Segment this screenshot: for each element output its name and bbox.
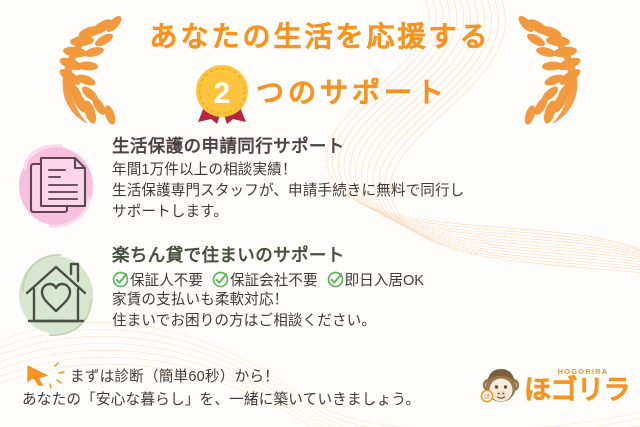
medal-number: 2 — [214, 77, 231, 110]
headline-line-1: あなたの生活を応援する — [0, 23, 640, 51]
logo-text-group: HOGORIRA ほゴリラ — [524, 368, 630, 404]
support-line: 生活保護専門スタッフが、申請手続きに無料で同行し — [112, 181, 626, 202]
medal-ribbon-icon: 2 — [192, 62, 252, 124]
support-line: サポートします。 — [112, 202, 626, 223]
headline-line-2-row: 2 つのサポート — [0, 62, 640, 124]
feature-chip: 保証会社不要 — [212, 269, 318, 290]
support-line: 住まいでお困りの方はご相談ください。 — [112, 311, 626, 332]
check-circle-icon — [112, 271, 129, 288]
support-title-1: 生活保護の申請同行サポート — [112, 136, 626, 157]
support-icon-container-1 — [0, 136, 112, 232]
check-circle-icon — [327, 271, 344, 288]
footer: まずは診断（簡単60秒）から！ あなたの「安心な暮らし」を、一緒に築いていきまし… — [0, 355, 640, 427]
support-text-2: 楽ちん貸で住まいのサポート 保証人不要 保証会社不要 — [112, 245, 640, 341]
logo-wordmark: ほゴリラ — [524, 377, 630, 404]
support-title-2: 楽ちん貸で住まいのサポート — [112, 245, 626, 266]
gorilla-mascot-icon: ほ — [480, 365, 522, 407]
support-block-documents: 生活保護の申請同行サポート 年間1万件以上の相談実績！ 生活保護専門スタッフが、… — [0, 136, 640, 232]
support-line: 家賃の支払いも柔軟対応！ — [112, 290, 626, 311]
house-heart-icon — [13, 249, 99, 341]
click-cursor-icon — [22, 360, 68, 390]
support-block-housing: 楽ちん貸で住まいのサポート 保証人不要 保証会社不要 — [0, 245, 640, 341]
svg-text:ほ: ほ — [484, 393, 490, 400]
headline-line-2: つのサポート — [256, 79, 448, 107]
support-icon-container-2 — [0, 245, 112, 341]
footer-line-2: あなたの「安心な暮らし」を、一緒に築いていきましょう。 — [22, 388, 420, 409]
feature-chip: 即日入居OK — [327, 269, 424, 290]
check-circle-icon — [212, 271, 229, 288]
support-text-1: 生活保護の申請同行サポート 年間1万件以上の相談実績！ 生活保護専門スタッフが、… — [112, 136, 640, 232]
documents-icon — [13, 140, 99, 232]
feature-chip-label: 即日入居OK — [345, 269, 424, 290]
header: あなたの生活を応援する 2 つのサポート — [0, 0, 640, 130]
footer-line-1-row: まずは診断（簡単60秒）から！ — [22, 360, 279, 390]
feature-chip: 保証人不要 — [112, 269, 203, 290]
feature-chip-list: 保証人不要 保証会社不要 即日入居OK — [112, 269, 626, 290]
promo-graphic: あなたの生活を応援する 2 つのサポート — [0, 0, 640, 427]
feature-chip-label: 保証会社不要 — [230, 269, 318, 290]
support-line: 年間1万件以上の相談実績！ — [112, 160, 626, 181]
brand-logo[interactable]: ほ HOGORIRA ほゴリラ — [480, 365, 630, 407]
footer-line-1: まずは診断（簡単60秒）から！ — [70, 365, 279, 386]
feature-chip-label: 保証人不要 — [130, 269, 203, 290]
